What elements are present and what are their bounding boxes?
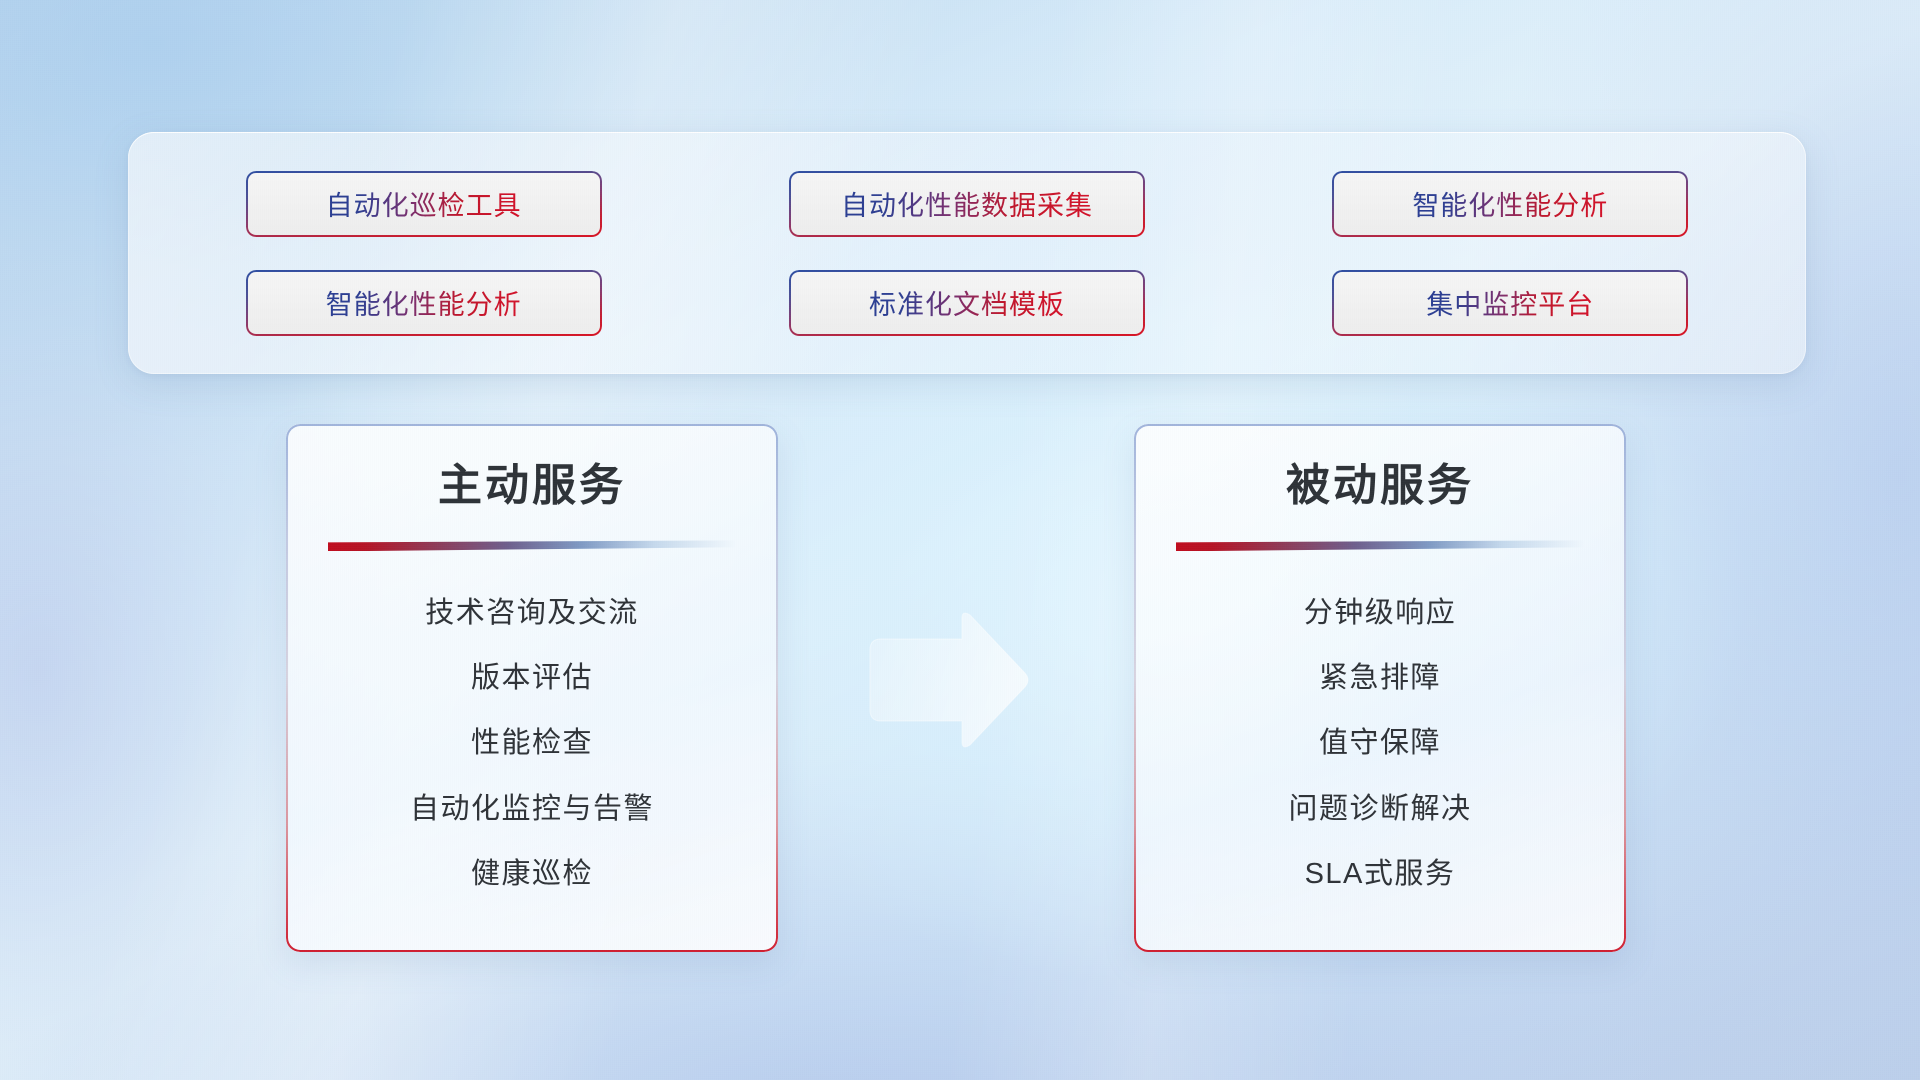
capability-pill-label: 智能化性能分析	[1412, 184, 1608, 223]
card-divider	[1176, 540, 1584, 551]
service-card-reactive[interactable]: 被动服务 分钟级响应 紧急排障 值守保障 问题诊断解决 SLA式服务	[1134, 424, 1626, 952]
capability-pill-label: 自动化性能数据采集	[841, 184, 1093, 223]
capability-pill-label: 智能化性能分析	[326, 283, 522, 322]
list-item: SLA式服务	[1305, 857, 1456, 892]
list-item: 紧急排障	[1319, 661, 1441, 696]
capability-pill-standardized-document-template[interactable]: 标准化文档模板	[789, 270, 1145, 336]
card-divider	[328, 540, 736, 551]
list-item: 性能检查	[471, 726, 593, 761]
capability-pill-intelligent-performance-analysis-top[interactable]: 智能化性能分析	[1332, 171, 1688, 237]
card-item-list: 分钟级响应 紧急排障 值守保障 问题诊断解决 SLA式服务	[1162, 565, 1598, 928]
card-divider-bar	[328, 540, 736, 551]
list-item: 问题诊断解决	[1288, 792, 1471, 827]
capability-pill-centralized-monitoring-platform[interactable]: 集中监控平台	[1332, 270, 1688, 336]
card-title: 主动服务	[314, 462, 750, 510]
list-item: 值守保障	[1319, 726, 1441, 761]
card-title: 被动服务	[1162, 462, 1598, 510]
card-item-list: 技术咨询及交流 版本评估 性能检查 自动化监控与告警 健康巡检	[314, 565, 750, 928]
capability-pill-automated-performance-data-collection[interactable]: 自动化性能数据采集	[789, 171, 1145, 237]
card-divider-bar	[1176, 540, 1584, 551]
list-item: 健康巡检	[471, 857, 593, 892]
list-item: 分钟级响应	[1304, 596, 1457, 631]
capability-pill-automated-inspection-tool[interactable]: 自动化巡检工具	[246, 171, 602, 237]
capability-pill-label: 标准化文档模板	[869, 283, 1065, 322]
capability-pill-label: 自动化巡检工具	[326, 184, 522, 223]
list-item: 技术咨询及交流	[425, 596, 639, 631]
capability-panel: 自动化巡检工具 自动化性能数据采集 智能化性能分析 智能化性能分析 标准化文档模…	[128, 132, 1806, 374]
capability-pill-label: 集中监控平台	[1426, 283, 1594, 322]
list-item: 自动化监控与告警	[410, 792, 654, 827]
slide-canvas: 自动化巡检工具 自动化性能数据采集 智能化性能分析 智能化性能分析 标准化文档模…	[0, 0, 1920, 1080]
capability-pill-intelligent-performance-analysis-bottom[interactable]: 智能化性能分析	[246, 270, 602, 336]
list-item: 版本评估	[471, 661, 593, 696]
service-card-proactive[interactable]: 主动服务 技术咨询及交流 版本评估 性能检查 自动化监控与告警 健康巡检	[286, 424, 778, 952]
